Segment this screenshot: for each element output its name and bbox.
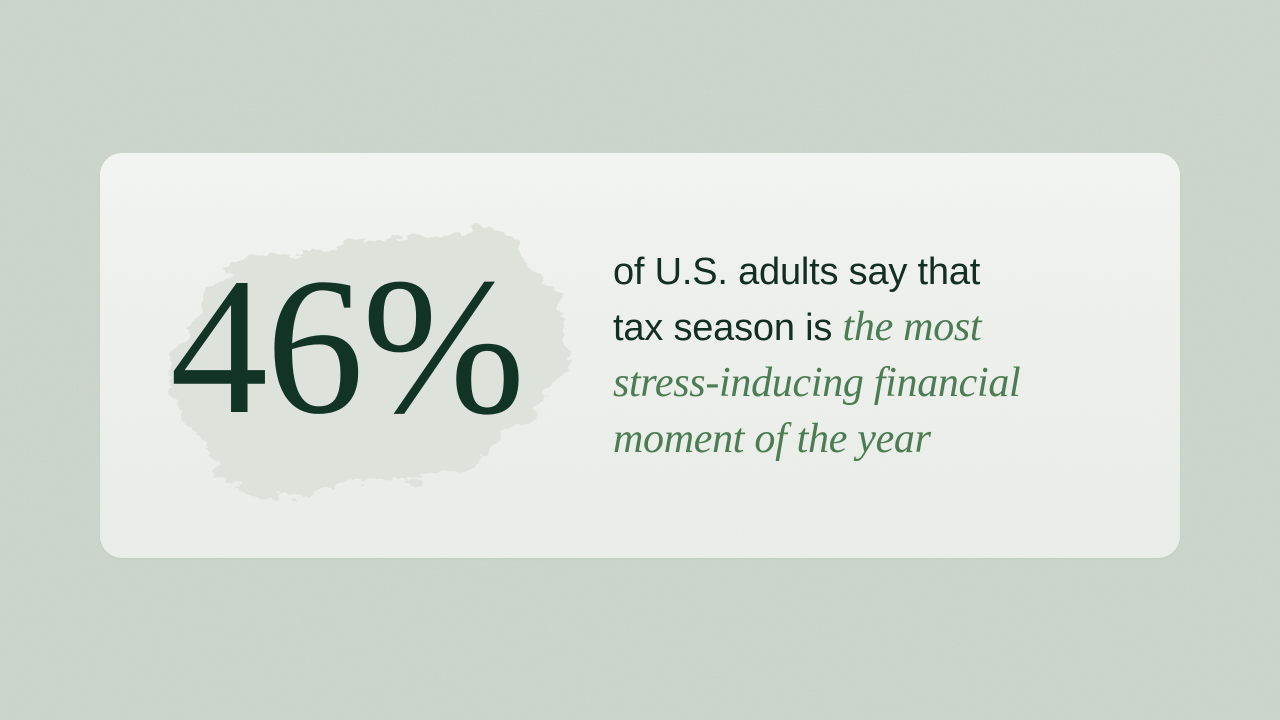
statement-line-3: stress-inducing financial xyxy=(613,356,1143,412)
statement-text: of U.S. adults say that tax season is th… xyxy=(613,245,1143,468)
statement-segment-accent: moment of the year xyxy=(613,416,931,462)
statement-line-2: tax season is the most xyxy=(613,300,1143,356)
stat-value: 46% xyxy=(170,249,620,445)
statement-segment-accent: the most xyxy=(843,304,982,350)
stat-block: 46% xyxy=(100,153,620,558)
statement-line-1: of U.S. adults say that xyxy=(613,245,1143,300)
statement-segment-accent: stress-inducing financial xyxy=(613,360,1020,406)
statement-line-4: moment of the year xyxy=(613,412,1143,468)
stat-card: 46% of U.S. adults say that tax season i… xyxy=(100,153,1180,558)
statement-segment: of U.S. adults say that xyxy=(613,251,980,293)
statistic-graphic: 46% of U.S. adults say that tax season i… xyxy=(0,0,1280,720)
statement-segment: tax season is xyxy=(613,307,843,349)
